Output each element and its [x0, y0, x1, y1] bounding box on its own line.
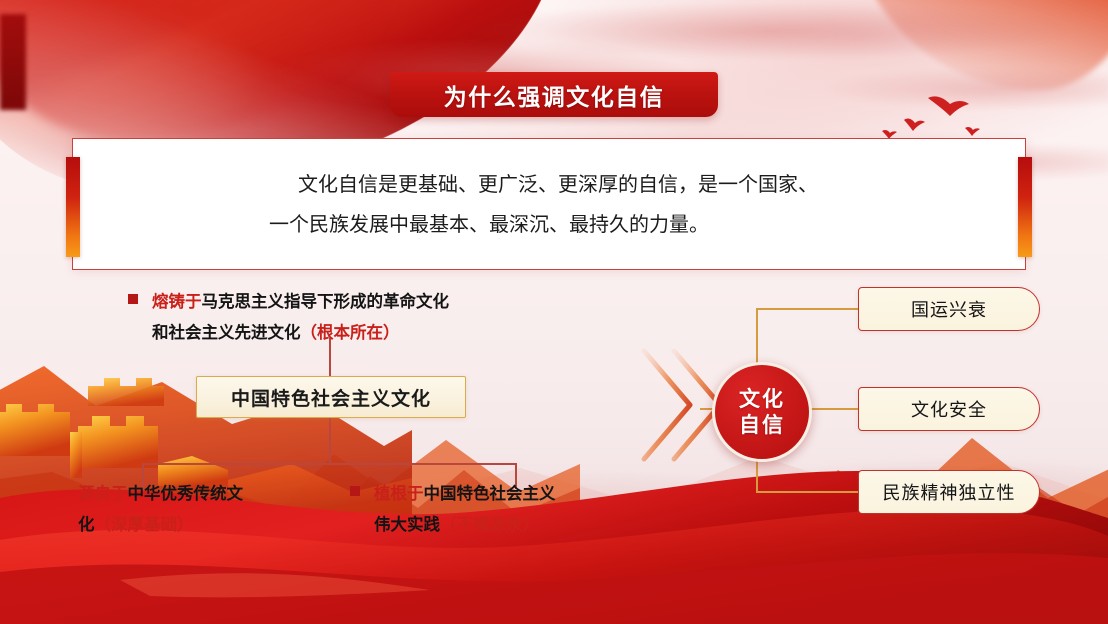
node-br-line2: 伟大实践 [374, 515, 440, 534]
bullet-square-icon [128, 294, 138, 304]
quote-accent-bar-left [66, 157, 80, 257]
right-box-1-label: 国运兴衰 [911, 296, 987, 322]
node-top-emphasis: 熔铸于 [152, 292, 202, 311]
center-node-box: 中国特色社会主义文化 [196, 376, 466, 418]
badge-line-1: 文化 [739, 386, 785, 412]
node-bottom-right: 植根于中国特色社会主义 伟大实践（不竭源泉） [350, 478, 650, 540]
node-br-line2-wrap: 伟大实践（不竭源泉） [350, 509, 650, 540]
quote-accent-bar-right [1018, 157, 1032, 257]
node-bl-line1: 中华优秀传统文 [128, 484, 244, 503]
center-node-label: 中国特色社会主义文化 [231, 384, 431, 411]
quote-line-2: 一个民族发展中最基本、最深沉、最持久的力量。 [269, 204, 829, 244]
node-top-line1: 马克思主义指导下形成的革命文化 [202, 292, 450, 311]
right-box-2: 文化安全 [858, 387, 1040, 431]
quote-card: 文化自信是更基础、更广泛、更深厚的自信，是一个国家、 一个民族发展中最基本、最深… [72, 138, 1026, 270]
red-corner-accent [0, 14, 26, 110]
slide-title-banner: 为什么强调文化自信 [390, 72, 718, 117]
page-title: 为什么强调文化自信 [444, 78, 665, 112]
node-bottom-left: 源自于中华优秀传统文 化（深厚基础） [78, 478, 338, 540]
badge-line-2: 自信 [739, 412, 785, 438]
bracket-branch-1 [756, 308, 862, 310]
bracket-branch-3 [756, 491, 862, 493]
node-bl-emphasis: 源自于 [78, 484, 128, 503]
slide-canvas: 为什么强调文化自信 文化自信是更基础、更广泛、更深厚的自信，是一个国家、 一个民… [0, 0, 1108, 624]
node-bl-paren: （深厚基础） [95, 515, 194, 534]
node-top-paren: （根本所在） [301, 323, 400, 342]
node-top-line2-wrap: 和社会主义先进文化（根本所在） [128, 317, 568, 348]
node-bl-line2: 化 [78, 515, 95, 534]
node-br-emphasis: 植根于 [374, 484, 424, 503]
connector-horizontal-split [142, 463, 517, 465]
connector-mid-vertical [329, 416, 331, 464]
red-silk-ribbon-highlight [0, 0, 400, 140]
culture-confidence-badge: 文化 自信 [712, 362, 812, 462]
node-br-line1: 中国特色社会主义 [424, 484, 556, 503]
node-br-paren: （不竭源泉） [440, 515, 539, 534]
right-box-2-label: 文化安全 [911, 396, 987, 422]
quote-line-1: 文化自信是更基础、更广泛、更深厚的自信，是一个国家、 [280, 164, 818, 204]
right-box-1: 国运兴衰 [858, 287, 1040, 331]
right-box-3: 民族精神独立性 [858, 470, 1040, 514]
node-top-line2: 和社会主义先进文化 [152, 323, 301, 342]
red-silk-ribbon-top-right [848, 0, 1108, 90]
node-top: 熔铸于马克思主义指导下形成的革命文化 和社会主义先进文化（根本所在） [128, 286, 568, 348]
node-bl-line2-wrap: 化（深厚基础） [78, 509, 338, 540]
bullet-square-icon [350, 486, 360, 496]
right-box-3-label: 民族精神独立性 [883, 479, 1016, 505]
